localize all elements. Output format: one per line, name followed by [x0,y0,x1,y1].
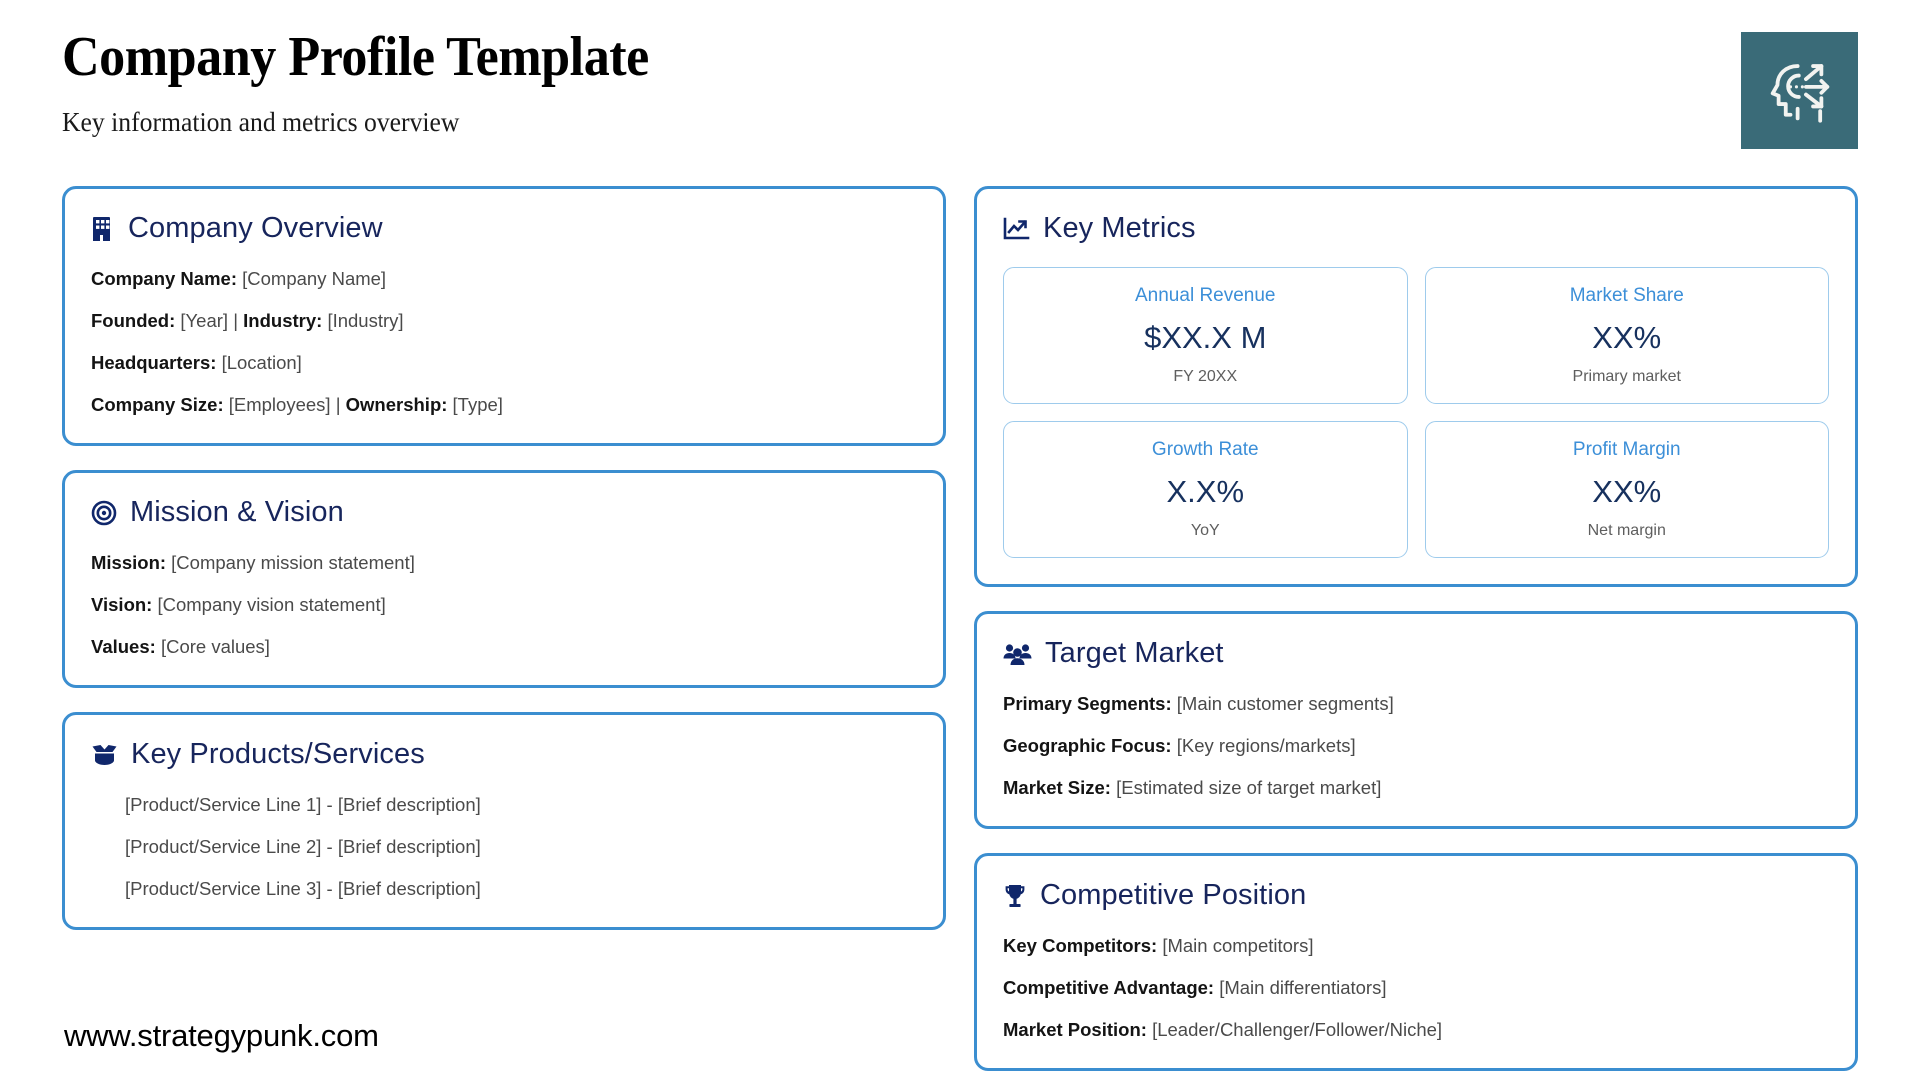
field-competitive-advantage: Competitive Advantage: [Main differentia… [1003,976,1829,1000]
metric-sublabel: YoY [1014,521,1397,540]
metric-label: Profit Margin [1436,439,1819,462]
users-group-icon [1003,642,1032,666]
card-title: Key Products/Services [131,739,425,771]
field-label: Key Competitors: [1003,935,1157,956]
field-value: [Estimated size of target market] [1116,777,1381,798]
line-chart-icon [1003,217,1030,241]
field-value: [Core values] [161,636,270,657]
metric-value: X.X% [1014,473,1397,510]
field-values: Values: [Core values] [91,635,917,659]
field-mission: Mission: [Company mission statement] [91,551,917,575]
page-title: Company Profile Template [62,28,1178,87]
field-headquarters: Headquarters: [Location] [91,351,917,375]
right-column: Key Metrics Annual Revenue $XX.X M FY 20… [974,186,1858,1080]
card-header: Company Overview [91,213,917,245]
field-founded-industry: Founded: [Year] | Industry: [Industry] [91,309,917,333]
field-company-size-ownership: Company Size: [Employees] | Ownership: [… [91,393,917,417]
field-label: Primary Segments: [1003,693,1172,714]
left-column: Company Overview Company Name: [Company … [62,186,946,954]
card-header: Key Products/Services [91,739,917,771]
metric-label: Market Share [1436,285,1819,308]
card-header: Key Metrics [1003,213,1829,245]
field-value: [Company Name] [242,268,386,289]
field-label: Competitive Advantage: [1003,977,1214,998]
field-label: Company Size: [91,394,224,415]
metric-sublabel: FY 20XX [1014,367,1397,386]
target-bullseye-icon [91,500,117,526]
field-value: [Company vision statement] [157,594,385,615]
field-label: Market Position: [1003,1019,1147,1040]
card-key-products-services: Key Products/Services [Product/Service L… [62,712,946,930]
field-value: [Employees] [229,394,331,415]
head-strategy-arrows-icon [1762,53,1838,129]
metric-card-profit-margin: Profit Margin XX% Net margin [1425,421,1830,558]
card-header: Competitive Position [1003,880,1829,912]
card-target-market: Target Market Primary Segments: [Main cu… [974,611,1858,829]
field-value-2: [Type] [453,394,503,415]
field-separator: | [336,394,346,415]
card-company-overview: Company Overview Company Name: [Company … [62,186,946,446]
slide-canvas: Company Profile Template Key information… [0,0,1920,1080]
field-label: Values: [91,636,156,657]
field-label: Vision: [91,594,152,615]
card-title: Target Market [1045,638,1224,670]
field-primary-segments: Primary Segments: [Main customer segment… [1003,692,1829,716]
field-label-2: Industry: [243,310,322,331]
metric-card-growth-rate: Growth Rate X.X% YoY [1003,421,1408,558]
field-label-2: Ownership: [346,394,448,415]
metric-sublabel: Primary market [1436,367,1819,386]
card-mission-vision: Mission & Vision Mission: [Company missi… [62,470,946,688]
field-value: [Main competitors] [1162,935,1313,956]
field-market-position: Market Position: [Leader/Challenger/Foll… [1003,1018,1829,1042]
metric-card-annual-revenue: Annual Revenue $XX.X M FY 20XX [1003,267,1408,404]
field-value: [Main differentiators] [1219,977,1386,998]
footer-website-url: www.strategypunk.com [64,1018,379,1054]
card-title: Company Overview [128,213,383,245]
field-key-competitors: Key Competitors: [Main competitors] [1003,934,1829,958]
metric-label: Annual Revenue [1014,285,1397,308]
field-value: [Main customer segments] [1177,693,1394,714]
field-value-2: [Industry] [327,310,403,331]
metric-value: $XX.X M [1014,319,1397,356]
building-icon [91,215,115,243]
card-competitive-position: Competitive Position Key Competitors: [M… [974,853,1858,1071]
field-label: Mission: [91,552,166,573]
list-item: [Product/Service Line 2] - [Brief descri… [125,835,917,859]
metric-card-market-share: Market Share XX% Primary market [1425,267,1830,404]
field-company-name: Company Name: [Company Name] [91,267,917,291]
card-title: Competitive Position [1040,880,1306,912]
field-value: [Key regions/markets] [1177,735,1356,756]
card-title: Mission & Vision [130,497,344,529]
field-vision: Vision: [Company vision statement] [91,593,917,617]
field-label: Geographic Focus: [1003,735,1172,756]
card-title: Key Metrics [1043,213,1196,245]
trophy-icon [1003,883,1027,909]
field-label: Company Name: [91,268,237,289]
field-value: [Leader/Challenger/Follower/Niche] [1152,1019,1442,1040]
metric-sublabel: Net margin [1436,521,1819,540]
field-label: Headquarters: [91,352,216,373]
metric-value: XX% [1436,319,1819,356]
field-geographic-focus: Geographic Focus: [Key regions/markets] [1003,734,1829,758]
list-item: [Product/Service Line 1] - [Brief descri… [125,793,917,817]
open-box-icon [91,743,118,767]
metric-value: XX% [1436,473,1819,510]
field-value: [Year] [180,310,228,331]
page-subtitle: Key information and metrics overview [62,107,1202,138]
brand-logo [1741,32,1858,149]
card-key-metrics: Key Metrics Annual Revenue $XX.X M FY 20… [974,186,1858,587]
card-header: Mission & Vision [91,497,917,529]
product-list: [Product/Service Line 1] - [Brief descri… [91,793,917,901]
field-label: Market Size: [1003,777,1111,798]
card-header: Target Market [1003,638,1829,670]
metric-label: Growth Rate [1014,439,1397,462]
field-value: [Location] [222,352,302,373]
header: Company Profile Template Key information… [62,28,1262,138]
list-item: [Product/Service Line 3] - [Brief descri… [125,877,917,901]
field-market-size: Market Size: [Estimated size of target m… [1003,776,1829,800]
field-separator: | [233,310,243,331]
field-value: [Company mission statement] [171,552,415,573]
field-label: Founded: [91,310,175,331]
metrics-grid: Annual Revenue $XX.X M FY 20XX Market Sh… [1003,267,1829,558]
